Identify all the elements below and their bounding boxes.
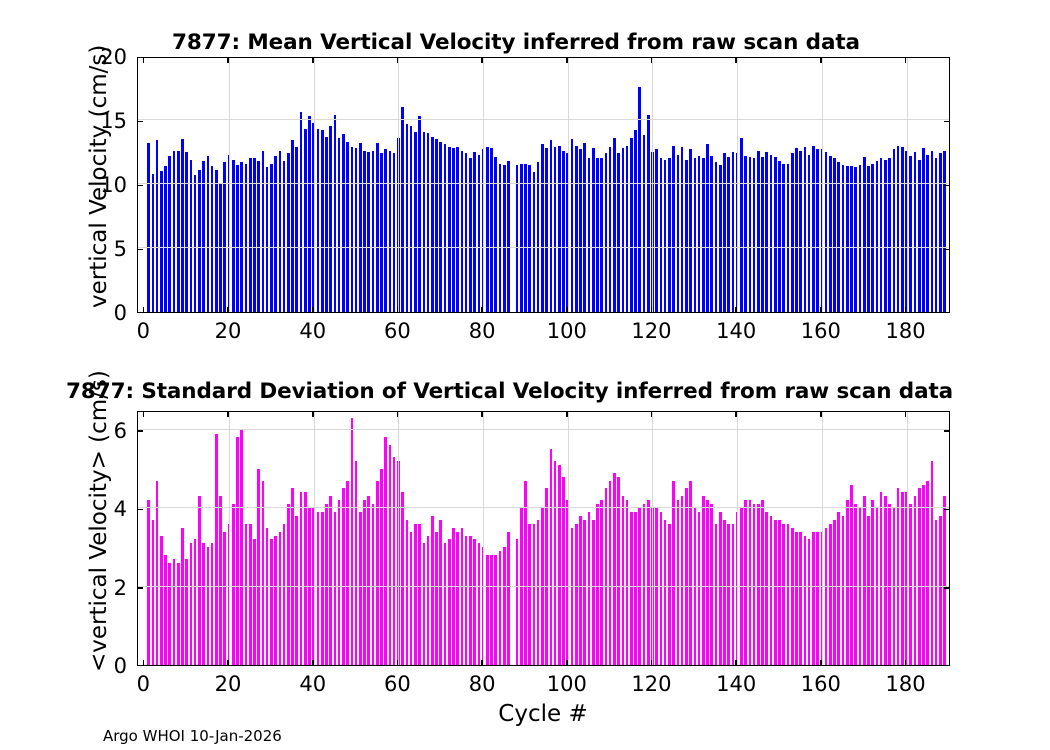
bar: [943, 496, 946, 665]
bar: [727, 157, 730, 312]
bar: [842, 516, 845, 665]
gridline-horizontal: [138, 119, 949, 120]
bar: [257, 469, 260, 665]
y-axis-label-std: <vertical Velocity> (cm/s): [86, 370, 112, 672]
bar: [321, 512, 324, 665]
bar: [516, 539, 519, 665]
bar: [367, 152, 370, 312]
x-tick-mark: [143, 660, 145, 666]
bar: [575, 146, 578, 312]
x-tick-mark: [566, 307, 568, 313]
bar: [634, 130, 637, 312]
x-tick-mark: [397, 307, 399, 313]
bar: [473, 539, 476, 665]
x-tick-mark: [651, 660, 653, 666]
x-tick-label: 120: [631, 319, 671, 343]
gridline-horizontal: [138, 429, 949, 430]
bar: [613, 473, 616, 665]
y-tick-mark: [137, 587, 143, 589]
gridline-vertical: [737, 58, 738, 312]
bar: [245, 524, 248, 665]
bar: [727, 524, 730, 665]
bar: [706, 500, 709, 665]
y-tick-mark: [944, 509, 950, 511]
bar: [401, 492, 404, 665]
bar: [859, 165, 862, 312]
gridline-vertical: [822, 412, 823, 665]
x-tick-mark: [227, 411, 229, 417]
bar: [414, 524, 417, 665]
bar: [202, 543, 205, 665]
bar: [279, 532, 282, 665]
x-tick-mark: [735, 57, 737, 63]
bar: [295, 147, 298, 312]
bar: [439, 142, 442, 312]
bar: [384, 437, 387, 665]
x-tick-mark: [227, 307, 229, 313]
bar: [236, 437, 239, 665]
bar: [249, 524, 252, 665]
plot-area-mean: [137, 57, 950, 313]
bar: [812, 532, 815, 665]
y-tick-mark: [137, 509, 143, 511]
bar: [253, 158, 256, 312]
x-tick-mark: [312, 57, 314, 63]
bar: [829, 524, 832, 665]
bar: [342, 134, 345, 312]
bar: [473, 152, 476, 312]
bar: [638, 87, 641, 312]
bar: [765, 152, 768, 312]
x-tick-label: 180: [885, 319, 925, 343]
bar: [626, 500, 629, 665]
bar: [486, 147, 489, 312]
bar: [863, 157, 866, 312]
bar: [630, 138, 633, 312]
bar: [406, 124, 409, 312]
bar: [808, 155, 811, 312]
bar: [804, 147, 807, 312]
bar: [554, 461, 557, 665]
y-tick-label: 15: [75, 109, 127, 133]
bar: [744, 156, 747, 312]
bar: [304, 129, 307, 312]
gridline-vertical: [907, 412, 908, 665]
bar: [893, 149, 896, 312]
bar: [888, 158, 891, 312]
bar: [329, 496, 332, 665]
bar: [685, 488, 688, 665]
bar: [837, 512, 840, 665]
x-tick-mark: [905, 411, 907, 417]
bar: [452, 528, 455, 665]
bar: [393, 457, 396, 665]
bar: [359, 143, 362, 312]
bar: [622, 496, 625, 665]
bar: [295, 516, 298, 665]
y-tick-label: 4: [75, 497, 127, 521]
bar: [660, 512, 663, 665]
x-tick-mark: [820, 411, 822, 417]
x-tick-mark: [651, 57, 653, 63]
y-tick-label: 20: [75, 45, 127, 69]
bar: [660, 158, 663, 312]
bar: [846, 166, 849, 312]
bar: [329, 126, 332, 312]
bar: [207, 156, 210, 312]
bar: [622, 148, 625, 312]
bar: [465, 536, 468, 665]
bar: [181, 139, 184, 312]
bar: [744, 500, 747, 665]
bar: [393, 153, 396, 312]
bar: [198, 496, 201, 665]
bar: [291, 488, 294, 665]
bar: [782, 164, 785, 312]
bar: [503, 165, 506, 312]
y-tick-label: 2: [75, 576, 127, 600]
gridline-vertical: [229, 58, 230, 312]
x-tick-mark: [820, 307, 822, 313]
gridline-vertical: [314, 58, 315, 312]
bar: [173, 559, 176, 665]
bar: [490, 148, 493, 312]
bar: [359, 512, 362, 665]
bar: [922, 485, 925, 665]
x-tick-mark: [651, 411, 653, 417]
bar: [469, 158, 472, 312]
bar: [270, 164, 273, 312]
bar: [503, 547, 506, 665]
bar: [774, 157, 777, 312]
bar: [550, 140, 553, 312]
x-tick-mark: [820, 660, 822, 666]
x-tick-mark: [735, 660, 737, 666]
bar: [351, 147, 354, 312]
x-tick-label: 0: [137, 319, 150, 343]
bar: [804, 536, 807, 665]
x-tick-mark: [143, 411, 145, 417]
bar: [427, 536, 430, 665]
gridline-vertical: [398, 58, 399, 312]
bar: [926, 155, 929, 312]
gridline-horizontal: [138, 586, 949, 587]
bar: [533, 524, 536, 665]
bar: [448, 147, 451, 312]
bar: [901, 147, 904, 312]
y-tick-label: 10: [75, 173, 127, 197]
bar: [634, 512, 637, 665]
bar: [787, 164, 790, 312]
x-tick-label: 140: [716, 319, 756, 343]
bar: [765, 512, 768, 665]
bar: [160, 171, 163, 312]
bar: [698, 512, 701, 665]
x-tick-label: 160: [801, 672, 841, 696]
bar: [279, 151, 282, 312]
bar: [558, 146, 561, 312]
bar: [774, 520, 777, 665]
bar: [854, 167, 857, 312]
bar: [702, 496, 705, 665]
bar: [274, 156, 277, 312]
bar: [600, 158, 603, 312]
bar: [825, 152, 828, 312]
bar: [914, 496, 917, 665]
bar: [732, 524, 735, 665]
bar: [550, 449, 553, 665]
bar: [410, 532, 413, 665]
bar: [664, 520, 667, 665]
bar: [761, 157, 764, 312]
bar: [219, 496, 222, 665]
bar: [778, 520, 781, 665]
bar: [672, 481, 675, 665]
bar: [262, 481, 265, 665]
bar: [617, 477, 620, 665]
bar: [524, 164, 527, 312]
bar: [262, 151, 265, 312]
bar: [545, 488, 548, 665]
bar: [931, 461, 934, 665]
bar: [816, 149, 819, 312]
bar-series-std: [138, 412, 949, 665]
bar: [541, 144, 544, 312]
x-tick-mark: [905, 660, 907, 666]
x-tick-label: 40: [299, 319, 326, 343]
y-tick-mark: [944, 185, 950, 187]
bar: [444, 543, 447, 665]
bar: [850, 485, 853, 665]
bar: [283, 524, 286, 665]
x-tick-label: 180: [885, 672, 925, 696]
x-tick-mark: [905, 307, 907, 313]
bar: [355, 148, 358, 312]
bar: [461, 151, 464, 312]
bar: [761, 500, 764, 665]
y-tick-label: 6: [75, 419, 127, 443]
x-tick-label: 140: [716, 672, 756, 696]
bar: [647, 115, 650, 312]
bar: [871, 164, 874, 312]
bar: [795, 148, 798, 312]
bar: [943, 151, 946, 312]
bar: [389, 151, 392, 312]
x-tick-mark: [735, 411, 737, 417]
x-tick-mark: [481, 660, 483, 666]
bar: [837, 162, 840, 312]
y-tick-mark: [944, 587, 950, 589]
x-tick-label: 40: [299, 672, 326, 696]
y-tick-mark: [944, 121, 950, 123]
bar: [499, 164, 502, 312]
bar: [871, 500, 874, 665]
x-tick-mark: [397, 660, 399, 666]
bar: [706, 144, 709, 312]
footer-credit: Argo WHOI 10-Jan-2026: [103, 727, 282, 745]
bar: [901, 492, 904, 665]
bar: [499, 551, 502, 665]
bar: [168, 156, 171, 312]
bar: [702, 158, 705, 312]
bar: [617, 153, 620, 312]
bar: [211, 166, 214, 312]
bar: [351, 418, 354, 665]
bar: [435, 139, 438, 312]
x-tick-label: 0: [137, 672, 150, 696]
bar: [423, 543, 426, 665]
bar: [444, 144, 447, 312]
x-tick-mark: [566, 57, 568, 63]
x-tick-mark: [481, 307, 483, 313]
x-tick-label: 60: [384, 672, 411, 696]
bar: [715, 162, 718, 312]
bar: [490, 555, 493, 665]
bar: [677, 500, 680, 665]
bar: [177, 151, 180, 312]
bar: [198, 170, 201, 312]
bar: [689, 481, 692, 665]
bar: [897, 146, 900, 312]
bar: [516, 165, 519, 312]
x-tick-mark: [143, 307, 145, 313]
bar: [156, 140, 159, 312]
y-tick-mark: [137, 121, 143, 123]
bar: [266, 528, 269, 665]
bar: [160, 536, 163, 665]
bar: [672, 146, 675, 312]
bar: [384, 149, 387, 312]
bar: [681, 496, 684, 665]
gridline-vertical: [568, 412, 569, 665]
bar: [749, 500, 752, 665]
bar: [740, 138, 743, 312]
bar: [909, 156, 912, 312]
gridline-horizontal: [138, 183, 949, 184]
bar: [346, 481, 349, 665]
bar: [249, 158, 252, 312]
bar: [389, 445, 392, 665]
bar: [465, 153, 468, 312]
bar: [164, 555, 167, 665]
bar: [914, 152, 917, 312]
bar: [308, 116, 311, 312]
bar: [363, 500, 366, 665]
bar: [554, 147, 557, 312]
bar: [579, 516, 582, 665]
bar: [300, 492, 303, 665]
x-tick-mark: [312, 307, 314, 313]
bar: [338, 138, 341, 312]
bar: [321, 130, 324, 312]
x-tick-label: 60: [384, 319, 411, 343]
bar: [833, 520, 836, 665]
bar: [372, 151, 375, 312]
bar: [884, 496, 887, 665]
x-tick-mark: [481, 57, 483, 63]
x-tick-label: 100: [547, 672, 587, 696]
bar: [418, 116, 421, 312]
bar: [245, 164, 248, 312]
bar: [367, 496, 370, 665]
bar: [863, 496, 866, 665]
bar: [355, 461, 358, 665]
bar: [537, 162, 540, 312]
bar: [732, 152, 735, 312]
bar: [846, 500, 849, 665]
bar: [190, 543, 193, 665]
bar: [694, 158, 697, 312]
gridline-horizontal: [138, 507, 949, 508]
bar: [867, 516, 870, 665]
x-tick-label: 80: [469, 672, 496, 696]
gridline-horizontal: [138, 247, 949, 248]
bar: [401, 107, 404, 312]
bar: [588, 512, 591, 665]
x-tick-mark: [481, 411, 483, 417]
x-tick-label: 100: [547, 319, 587, 343]
bar: [791, 528, 794, 665]
bar: [655, 149, 658, 312]
gridline-vertical: [652, 412, 653, 665]
y-tick-mark: [137, 249, 143, 251]
gridline-vertical: [822, 58, 823, 312]
x-tick-mark: [312, 411, 314, 417]
bar: [380, 469, 383, 665]
bar: [380, 153, 383, 312]
gridline-vertical: [483, 412, 484, 665]
chart-title-mean: 7877: Mean Vertical Velocity inferred fr…: [172, 30, 860, 55]
bar: [770, 516, 773, 665]
x-tick-label: 80: [469, 319, 496, 343]
x-tick-mark: [820, 57, 822, 63]
bar: [626, 146, 629, 312]
bar: [181, 528, 184, 665]
bar: [719, 165, 722, 312]
bar: [668, 158, 671, 312]
bar: [486, 555, 489, 665]
bar: [545, 148, 548, 312]
bar: [223, 532, 226, 665]
bar: [583, 143, 586, 312]
bar: [342, 488, 345, 665]
bar: [681, 147, 684, 312]
y-tick-label: 0: [75, 301, 127, 325]
x-tick-mark: [397, 57, 399, 63]
bar: [274, 536, 277, 665]
bar: [223, 162, 226, 312]
bar: [931, 151, 934, 312]
bar: [304, 492, 307, 665]
x-tick-mark: [905, 57, 907, 63]
bar: [833, 158, 836, 312]
bar: [575, 524, 578, 665]
bar: [194, 539, 197, 665]
bar: [723, 520, 726, 665]
bar: [918, 488, 921, 665]
y-tick-mark: [944, 430, 950, 432]
gridline-vertical: [229, 412, 230, 665]
bar: [194, 175, 197, 312]
bar: [791, 153, 794, 312]
bar: [939, 516, 942, 665]
bar: [528, 524, 531, 665]
bar: [211, 543, 214, 665]
bar: [571, 528, 574, 665]
bar: [613, 138, 616, 312]
x-tick-label: 20: [215, 672, 242, 696]
gridline-vertical: [568, 58, 569, 312]
